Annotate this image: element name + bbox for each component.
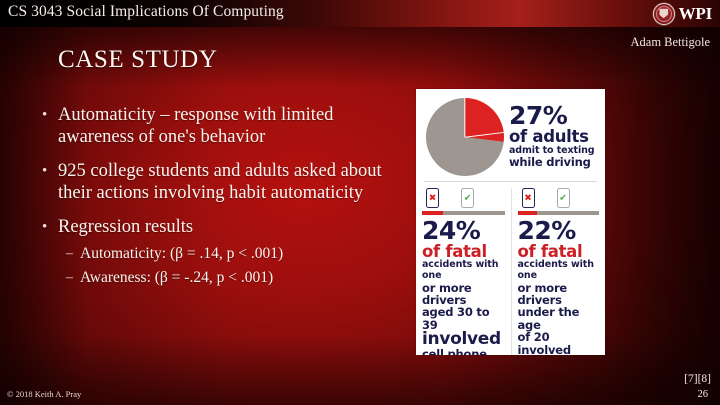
- bullet-marker-icon: •: [40, 216, 58, 238]
- author-name: Adam Bettigole: [631, 35, 711, 50]
- infographic-bottom-section: ✖ ✔ 24% of fatal accidents with one or m…: [416, 182, 605, 355]
- header-bar: CS 3043 Social Implications Of Computing…: [0, 0, 720, 27]
- panel-of-fatal: of fatal: [422, 244, 505, 261]
- panel-detail-line1: accidents with one: [518, 260, 600, 281]
- course-title: CS 3043 Social Implications Of Computing: [8, 3, 284, 21]
- page-title: CASE STUDY: [58, 46, 218, 74]
- panel-detail-line2: or more drivers: [518, 282, 600, 307]
- phone-green-check-icon: ✔: [557, 188, 570, 208]
- infographic-top-section: 27% of adults admit to texting while dri…: [416, 89, 605, 181]
- bullet-text: Automaticity – response with limited awa…: [58, 104, 400, 148]
- green-check-mark: ✔: [559, 194, 567, 203]
- pie-chart-wrapper: [424, 96, 506, 177]
- panel-detail-line3: under the age: [518, 306, 600, 331]
- panel-detail-line3: aged 30 to 39: [422, 306, 505, 331]
- panel-detail-line1: accidents with one: [422, 260, 505, 281]
- wpi-shield-seal-icon: [653, 3, 675, 25]
- panel-emphasis: of 20 involved: [518, 331, 600, 355]
- progress-bar-fill: [518, 211, 538, 215]
- wpi-logo-text: WPI: [679, 5, 712, 22]
- top-stat-percent: 27%: [509, 104, 597, 129]
- panel-detail-line4: cell phone use: [422, 348, 505, 355]
- bullet-marker-icon: •: [40, 160, 58, 204]
- wpi-logo: WPI: [653, 2, 712, 25]
- bullet-marker-icon: •: [40, 104, 58, 148]
- stat-panel-right: ✖ ✔ 22% of fatal accidents with one or m…: [511, 188, 606, 355]
- background-bottom-fade: [0, 335, 720, 405]
- phone-icon-row: ✖ ✔: [422, 188, 505, 208]
- panel-of-fatal: of fatal: [518, 244, 600, 261]
- sub-bullet-text: Automaticity: (β = .14, p < .001): [80, 244, 283, 263]
- top-stat-line4: while driving: [509, 156, 597, 168]
- bullet-list: • Automaticity – response with limited a…: [40, 104, 400, 292]
- sub-bullet-marker-icon: –: [66, 268, 80, 287]
- list-item: – Automaticity: (β = .14, p < .001): [66, 244, 400, 263]
- progress-bar: [518, 211, 600, 215]
- panel-detail-line2: or more drivers: [422, 282, 505, 307]
- bullet-text: Regression results: [58, 216, 193, 238]
- phone-icon-row: ✖ ✔: [518, 188, 600, 208]
- green-check-mark: ✔: [464, 194, 472, 203]
- red-x-mark: ✖: [524, 194, 532, 203]
- bullet-text: 925 college students and adults asked ab…: [58, 160, 400, 204]
- list-item: – Awareness: (β = -.24, p < .001): [66, 268, 400, 287]
- copyright-text: © 2018 Keith A. Pray: [7, 389, 81, 399]
- phone-green-check-icon: ✔: [461, 188, 474, 208]
- slide: CS 3043 Social Implications Of Computing…: [0, 0, 720, 405]
- list-item: • Regression results: [40, 216, 400, 238]
- page-number: 26: [698, 389, 709, 400]
- pie-chart: [426, 98, 504, 176]
- sub-bullet-marker-icon: –: [66, 244, 80, 263]
- panel-percent: 24%: [422, 219, 505, 244]
- panel-emphasis: involved: [422, 331, 505, 348]
- infographic-image: 27% of adults admit to texting while dri…: [416, 89, 605, 355]
- phone-red-x-icon: ✖: [522, 188, 535, 208]
- progress-bar: [422, 211, 505, 215]
- citation-reference: [7][8]: [684, 373, 711, 385]
- list-item: • 925 college students and adults asked …: [40, 160, 400, 204]
- progress-bar-fill: [422, 211, 443, 215]
- sub-bullet-text: Awareness: (β = -.24, p < .001): [80, 268, 273, 287]
- red-x-mark: ✖: [429, 194, 437, 203]
- list-item: • Automaticity – response with limited a…: [40, 104, 400, 148]
- stat-panel-left: ✖ ✔ 24% of fatal accidents with one or m…: [416, 188, 511, 355]
- phone-red-x-icon: ✖: [426, 188, 439, 208]
- top-stat-text: 27% of adults admit to texting while dri…: [506, 96, 597, 177]
- top-stat-line2: of adults: [509, 129, 597, 146]
- panel-percent: 22%: [518, 219, 600, 244]
